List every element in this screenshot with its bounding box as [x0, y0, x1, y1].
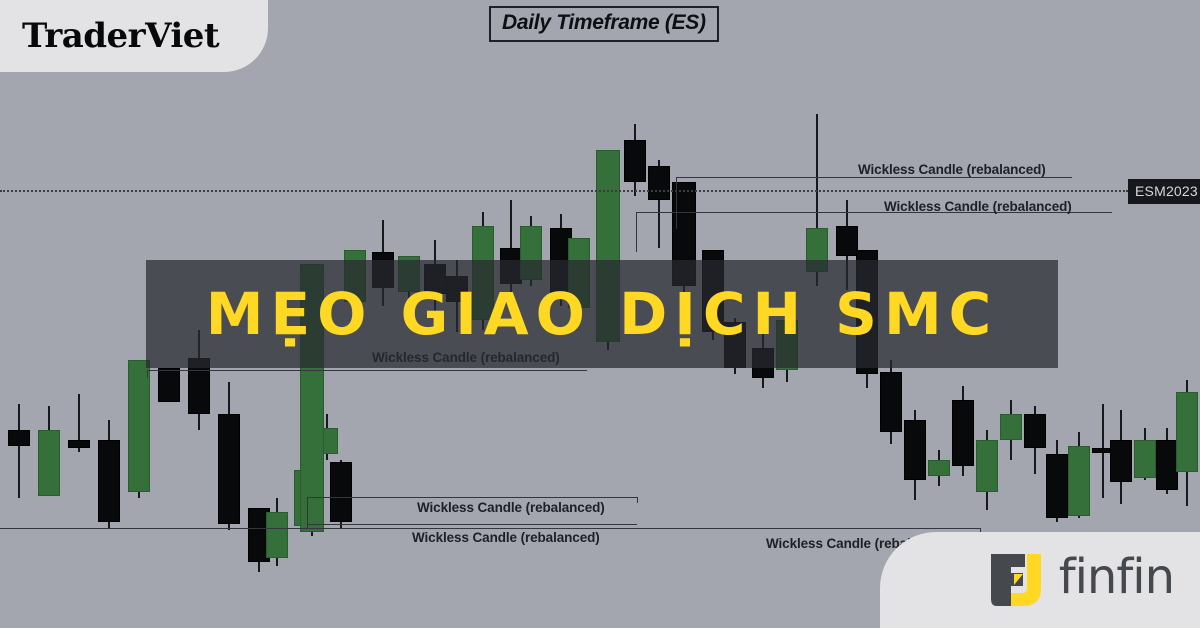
structure-level-line — [307, 524, 637, 525]
timeframe-title-label: Daily Timeframe (ES) — [502, 11, 706, 35]
candle-body — [330, 462, 352, 522]
candle-body — [1156, 440, 1178, 490]
candle-body — [624, 140, 646, 182]
candle-body — [128, 360, 150, 492]
candle — [158, 368, 180, 400]
traderviet-wordmark: TraderViet — [22, 16, 219, 56]
annotation-wickless-1: Wickless Candle (rebalanced) — [858, 162, 1046, 177]
candle-body — [1024, 414, 1046, 448]
structure-level-line — [147, 370, 587, 371]
candle-body — [266, 512, 288, 558]
candle-body — [928, 460, 950, 476]
candle — [68, 394, 90, 452]
candle — [952, 386, 974, 476]
candle-body — [904, 420, 926, 480]
finfin-fj-mark-icon — [991, 552, 1053, 608]
candle — [1000, 400, 1022, 460]
candle-body — [1046, 454, 1068, 518]
screenshot-canvas: Wickless Candle (rebalanced) Wickless Ca… — [0, 0, 1200, 628]
candle — [1156, 428, 1178, 494]
candle — [624, 124, 646, 196]
annotation-wickless-5: Wickless Candle (rebalanced) — [412, 530, 600, 545]
candle — [330, 460, 352, 528]
structure-level-line — [0, 528, 980, 529]
connector-vline-d — [307, 497, 308, 528]
annotation-wickless-2: Wickless Candle (rebalanced) — [884, 199, 1072, 214]
candle — [648, 160, 670, 248]
candle — [904, 410, 926, 500]
candle — [976, 430, 998, 510]
candle-body — [1068, 446, 1090, 516]
candle-body — [1110, 440, 1132, 482]
price-tag-label: ESM2023 — [1135, 183, 1198, 199]
candle — [128, 360, 150, 498]
structure-level-line — [307, 497, 637, 498]
candle-wick — [18, 404, 20, 498]
candle-body — [68, 440, 90, 448]
candle — [1024, 406, 1046, 474]
finfin-wordmark: finfin — [1059, 553, 1174, 601]
candle — [1176, 380, 1198, 506]
connector-vline-a — [676, 177, 677, 229]
candle-body — [1176, 392, 1198, 472]
candle — [8, 404, 30, 498]
traderviet-banner: TraderViet — [0, 0, 268, 72]
candle-body — [38, 430, 60, 496]
candle — [266, 498, 288, 566]
candle-body — [1134, 440, 1156, 478]
structure-level-line — [0, 190, 1128, 192]
candle-body — [218, 414, 240, 524]
candle — [1110, 410, 1132, 504]
candle — [1068, 432, 1090, 518]
candle-body — [976, 440, 998, 492]
finfin-logo: finfin — [880, 532, 1200, 628]
candle — [98, 420, 120, 528]
candle-body — [880, 372, 902, 432]
connector-vline-c — [147, 370, 148, 378]
connector-vline-e — [637, 497, 638, 503]
headline-text: MẸO GIAO DỊCH SMC — [206, 280, 999, 348]
candle-body — [952, 400, 974, 466]
candle-body — [648, 166, 670, 200]
candle-body — [1000, 414, 1022, 440]
candle — [218, 382, 240, 530]
candle-body — [8, 430, 30, 446]
candle — [38, 406, 60, 494]
price-tag-esm2023: ESM2023 — [1128, 179, 1200, 204]
annotation-wickless-4: Wickless Candle (rebalanced) — [417, 500, 605, 515]
candle-body — [836, 226, 858, 256]
structure-level-line — [676, 177, 1072, 178]
candle-body — [98, 440, 120, 522]
headline-overlay-band: MẸO GIAO DỊCH SMC — [146, 260, 1058, 368]
candle — [928, 450, 950, 486]
connector-vline-b — [636, 212, 637, 252]
candle — [880, 360, 902, 444]
candle — [1046, 440, 1068, 522]
candle-body — [158, 368, 180, 402]
candle — [1134, 428, 1156, 480]
timeframe-title-box: Daily Timeframe (ES) — [489, 6, 719, 42]
